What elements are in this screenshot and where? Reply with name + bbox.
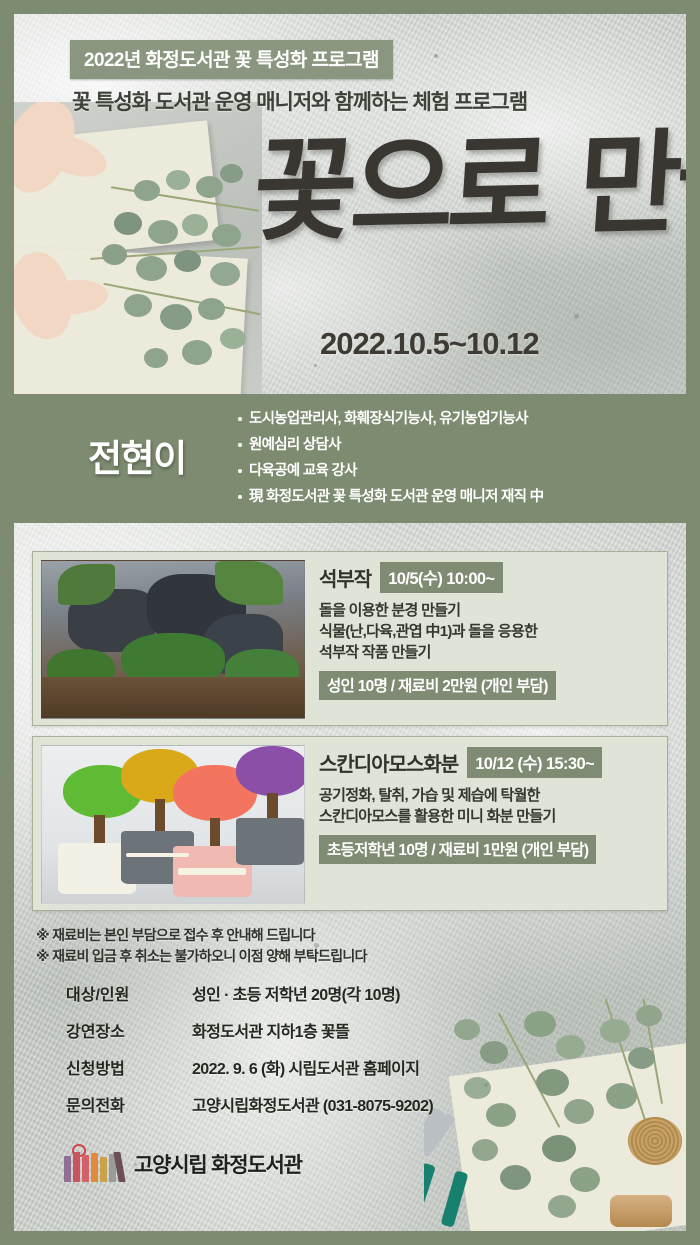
program-capacity-badge: 성인 10명 / 재료비 2만원 (개인 부담) [319, 671, 556, 700]
library-name: 고양시립 화정도서관 [134, 1149, 302, 1179]
library-logo: 고양시립 화정도서관 [62, 1144, 302, 1184]
info-value: 2022. 9. 6 (화) 시립도서관 홈페이지 [192, 1055, 419, 1079]
header-subtitle: 꽃 특성화 도서관 운영 매니저와 함께하는 체험 프로그램 [72, 86, 527, 116]
info-label: 문의전화 [66, 1092, 176, 1116]
info-label: 신청방법 [66, 1055, 176, 1079]
info-value: 화정도서관 지하1층 꽃뜰 [192, 1018, 349, 1042]
info-table: 대상/인원 성인 · 초등 저학년 20명(각 10명) 강연장소 화정도서관 … [66, 981, 433, 1129]
program-datetime-badge: 10/5(수) 10:00~ [380, 562, 502, 593]
info-value: 성인 · 초등 저학년 20명(각 10명) [192, 981, 400, 1005]
info-row: 강연장소 화정도서관 지하1층 꽃뜰 [66, 1018, 433, 1042]
program-card: 석부작 10/5(수) 10:00~ 돌을 이용한 분경 만들기 식물(난,다육… [32, 551, 668, 726]
info-label: 강연장소 [66, 1018, 176, 1042]
info-value: 고양시립화정도서관 (031-8075-9202) [192, 1092, 433, 1116]
poster-main-title: 꽃으로 만들다 [246, 128, 679, 317]
program-description-line: 스칸디아모스를 활용한 미니 화분 만들기 [319, 806, 657, 827]
program-description-line: 공기정화, 탈취, 가습 및 제습에 탁월한 [319, 785, 657, 806]
poster-date-range: 2022.10.5~10.12 [320, 326, 539, 362]
program-photo-seokbujak [41, 560, 305, 719]
instructor-name: 전현이 [88, 428, 186, 482]
program-photo-scandia-moss [41, 745, 305, 904]
note-item: ※ 재료비는 본인 부담으로 접수 후 안내해 드립니다 [36, 925, 367, 946]
poster-root: 2022년 화정도서관 꽃 특성화 프로그램 꽃 특성화 도서관 운영 매니저와… [0, 0, 700, 1245]
program-capacity-badge: 초등저학년 10명 / 재료비 1만원 (개인 부담) [319, 835, 596, 864]
notes-section: ※ 재료비는 본인 부담으로 접수 후 안내해 드립니다 ※ 재료비 입금 후 … [36, 925, 367, 967]
program-text: 석부작 10/5(수) 10:00~ 돌을 이용한 분경 만들기 식물(난,다육… [319, 562, 657, 700]
books-and-tulip-logo-icon [62, 1144, 122, 1184]
program-card: 스칸디아모스화분 10/12 (수) 15:30~ 공기정화, 탈취, 가습 및… [32, 736, 668, 911]
info-row: 대상/인원 성인 · 초등 저학년 20명(각 10명) [66, 981, 433, 1005]
program-description-line: 석부작 작품 만들기 [319, 642, 657, 663]
tagline-badge: 2022년 화정도서관 꽃 특성화 프로그램 [70, 40, 393, 79]
program-description-line: 식물(난,다육,관엽 中1)과 돌을 응용한 [319, 621, 657, 642]
instructor-band: 전현이 도시농업관리사, 화훼장식기능사, 유기농업기능사 원예심리 상담사 다… [14, 394, 686, 523]
program-name: 석부작 [319, 563, 371, 592]
program-datetime-badge: 10/12 (수) 15:30~ [467, 747, 602, 778]
program-description-line: 돌을 이용한 분경 만들기 [319, 600, 657, 621]
program-text: 스칸디아모스화분 10/12 (수) 15:30~ 공기정화, 탈취, 가습 및… [319, 747, 657, 864]
hero-photo-hands-wrapping-eucalyptus [14, 102, 262, 394]
decorative-eucalyptus-tools-photo [424, 999, 686, 1231]
program-heading: 스칸디아모스화분 10/12 (수) 15:30~ [319, 747, 657, 778]
instructor-credentials: 도시농업관리사, 화훼장식기능사, 유기농업기능사 원예심리 상담사 다육공예 … [237, 406, 677, 510]
credential-item: 現 화정도서관 꽃 특성화 도서관 운영 매니저 재직 中 [237, 484, 677, 510]
info-row: 신청방법 2022. 9. 6 (화) 시립도서관 홈페이지 [66, 1055, 433, 1079]
poster-header: 2022년 화정도서관 꽃 특성화 프로그램 꽃 특성화 도서관 운영 매니저와… [14, 14, 686, 394]
info-label: 대상/인원 [66, 981, 176, 1005]
poster-body: 석부작 10/5(수) 10:00~ 돌을 이용한 분경 만들기 식물(난,다육… [14, 523, 686, 1231]
note-item: ※ 재료비 입금 후 취소는 불가하오니 이점 양해 부탁드립니다 [36, 946, 367, 967]
program-heading: 석부작 10/5(수) 10:00~ [319, 562, 657, 593]
credential-item: 다육공예 교육 강사 [237, 458, 677, 484]
program-name: 스칸디아모스화분 [319, 748, 458, 777]
info-row: 문의전화 고양시립화정도서관 (031-8075-9202) [66, 1092, 433, 1116]
credential-item: 원예심리 상담사 [237, 432, 677, 458]
credential-item: 도시농업관리사, 화훼장식기능사, 유기농업기능사 [237, 406, 677, 432]
